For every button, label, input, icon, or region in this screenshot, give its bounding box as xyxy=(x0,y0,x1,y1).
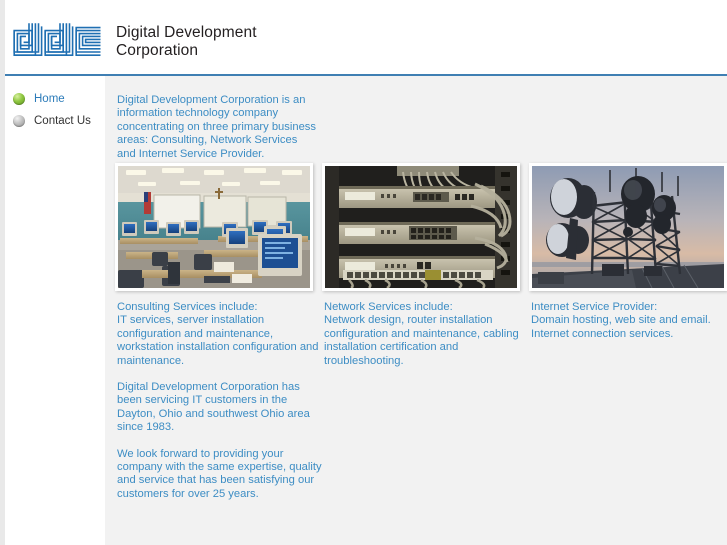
isp-body: Domain hosting, web site and email. Inte… xyxy=(531,314,711,339)
page-root: Digital Development Corporation Home Con… xyxy=(0,0,727,545)
site-logo[interactable]: Digital Development Corporation xyxy=(12,22,257,73)
network-rack-photo xyxy=(322,163,520,291)
site-header: Digital Development Corporation xyxy=(5,0,727,76)
intro-paragraph: Digital Development Corporation is an in… xyxy=(117,94,317,161)
computer-classroom-photo xyxy=(115,163,313,291)
internet-service-provider-column: Internet Service Provider: Domain hostin… xyxy=(531,301,727,354)
gray-sphere-bullet-icon xyxy=(13,115,25,127)
green-sphere-bullet-icon xyxy=(13,93,25,105)
consulting-heading-and-body: Consulting Services include: IT services… xyxy=(117,301,322,368)
network-body: Network design, router installation conf… xyxy=(324,314,519,366)
photo-row xyxy=(105,163,727,293)
network-services-column: Network Services include: Network design… xyxy=(324,301,529,381)
company-history-paragraph: Digital Development Corporation has been… xyxy=(117,381,322,435)
sidebar-item-label: Contact Us xyxy=(34,115,91,127)
network-heading-and-body: Network Services include: Network design… xyxy=(324,301,529,368)
consulting-body: IT services, server installation configu… xyxy=(117,314,319,366)
sidebar: Home Contact Us xyxy=(5,76,105,545)
isp-heading: Internet Service Provider: xyxy=(531,301,657,313)
isp-heading-and-body: Internet Service Provider: Domain hostin… xyxy=(531,301,727,341)
ddc-logo-icon xyxy=(12,22,104,73)
network-heading: Network Services include: xyxy=(324,301,453,313)
body-wrapper: Home Contact Us Digital Development Corp… xyxy=(5,76,727,545)
antenna-tower-photo xyxy=(529,163,727,291)
consulting-services-column: Consulting Services include: IT services… xyxy=(117,301,322,514)
consulting-heading: Consulting Services include: xyxy=(117,301,258,313)
company-name: Digital Development Corporation xyxy=(116,24,257,60)
main-content: Digital Development Corporation is an in… xyxy=(105,76,727,545)
company-promise-paragraph: We look forward to providing your compan… xyxy=(117,448,322,502)
sidebar-item-label: Home xyxy=(34,93,65,105)
sidebar-item-home[interactable]: Home xyxy=(5,88,105,110)
sidebar-item-contact-us[interactable]: Contact Us xyxy=(5,110,105,132)
main-navigation: Home Contact Us xyxy=(5,88,105,132)
